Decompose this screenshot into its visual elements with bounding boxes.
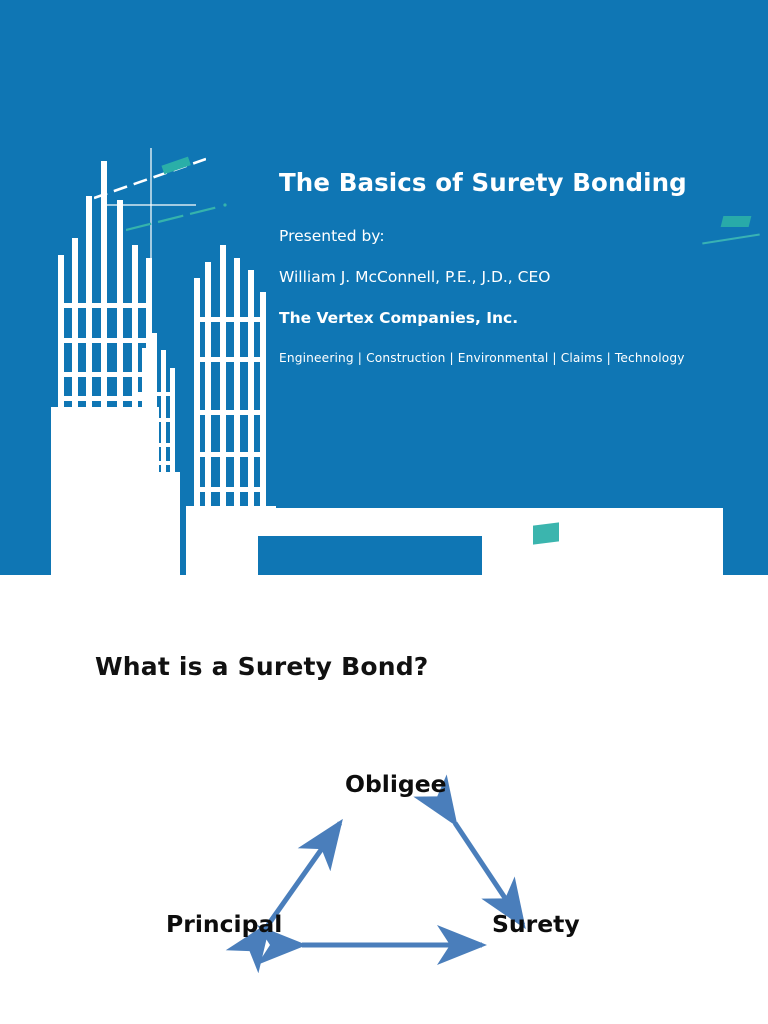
dashed-diagonal-line-upper (94, 156, 206, 202)
section-heading: What is a Surety Bond? (95, 652, 429, 681)
teal-quad-accent (533, 522, 559, 544)
content-slide: What is a Surety Bond? Obligee Principal… (0, 575, 768, 1024)
presenter-name: William J. McConnell, P.E., J.D., CEO (279, 268, 749, 287)
surety-triangle-diagram: Obligee Principal Surety (0, 765, 768, 995)
dashed-diagonal-line-lower (126, 202, 228, 234)
company-name: The Vertex Companies, Inc. (279, 309, 749, 328)
presented-by-label: Presented by: (279, 227, 749, 246)
services-tagline: Engineering | Construction | Environment… (279, 351, 749, 366)
diagram-node-obligee: Obligee (345, 770, 447, 798)
title-slide: The Basics of Surety Bonding Presented b… (0, 0, 768, 575)
slide-page: The Basics of Surety Bonding Presented b… (0, 0, 768, 1024)
diagram-node-surety: Surety (492, 910, 580, 938)
page-title: The Basics of Surety Bonding (279, 168, 749, 197)
title-text-block: The Basics of Surety Bonding Presented b… (279, 168, 749, 366)
diagram-node-principal: Principal (166, 910, 282, 938)
triangle-arrows (0, 765, 768, 995)
